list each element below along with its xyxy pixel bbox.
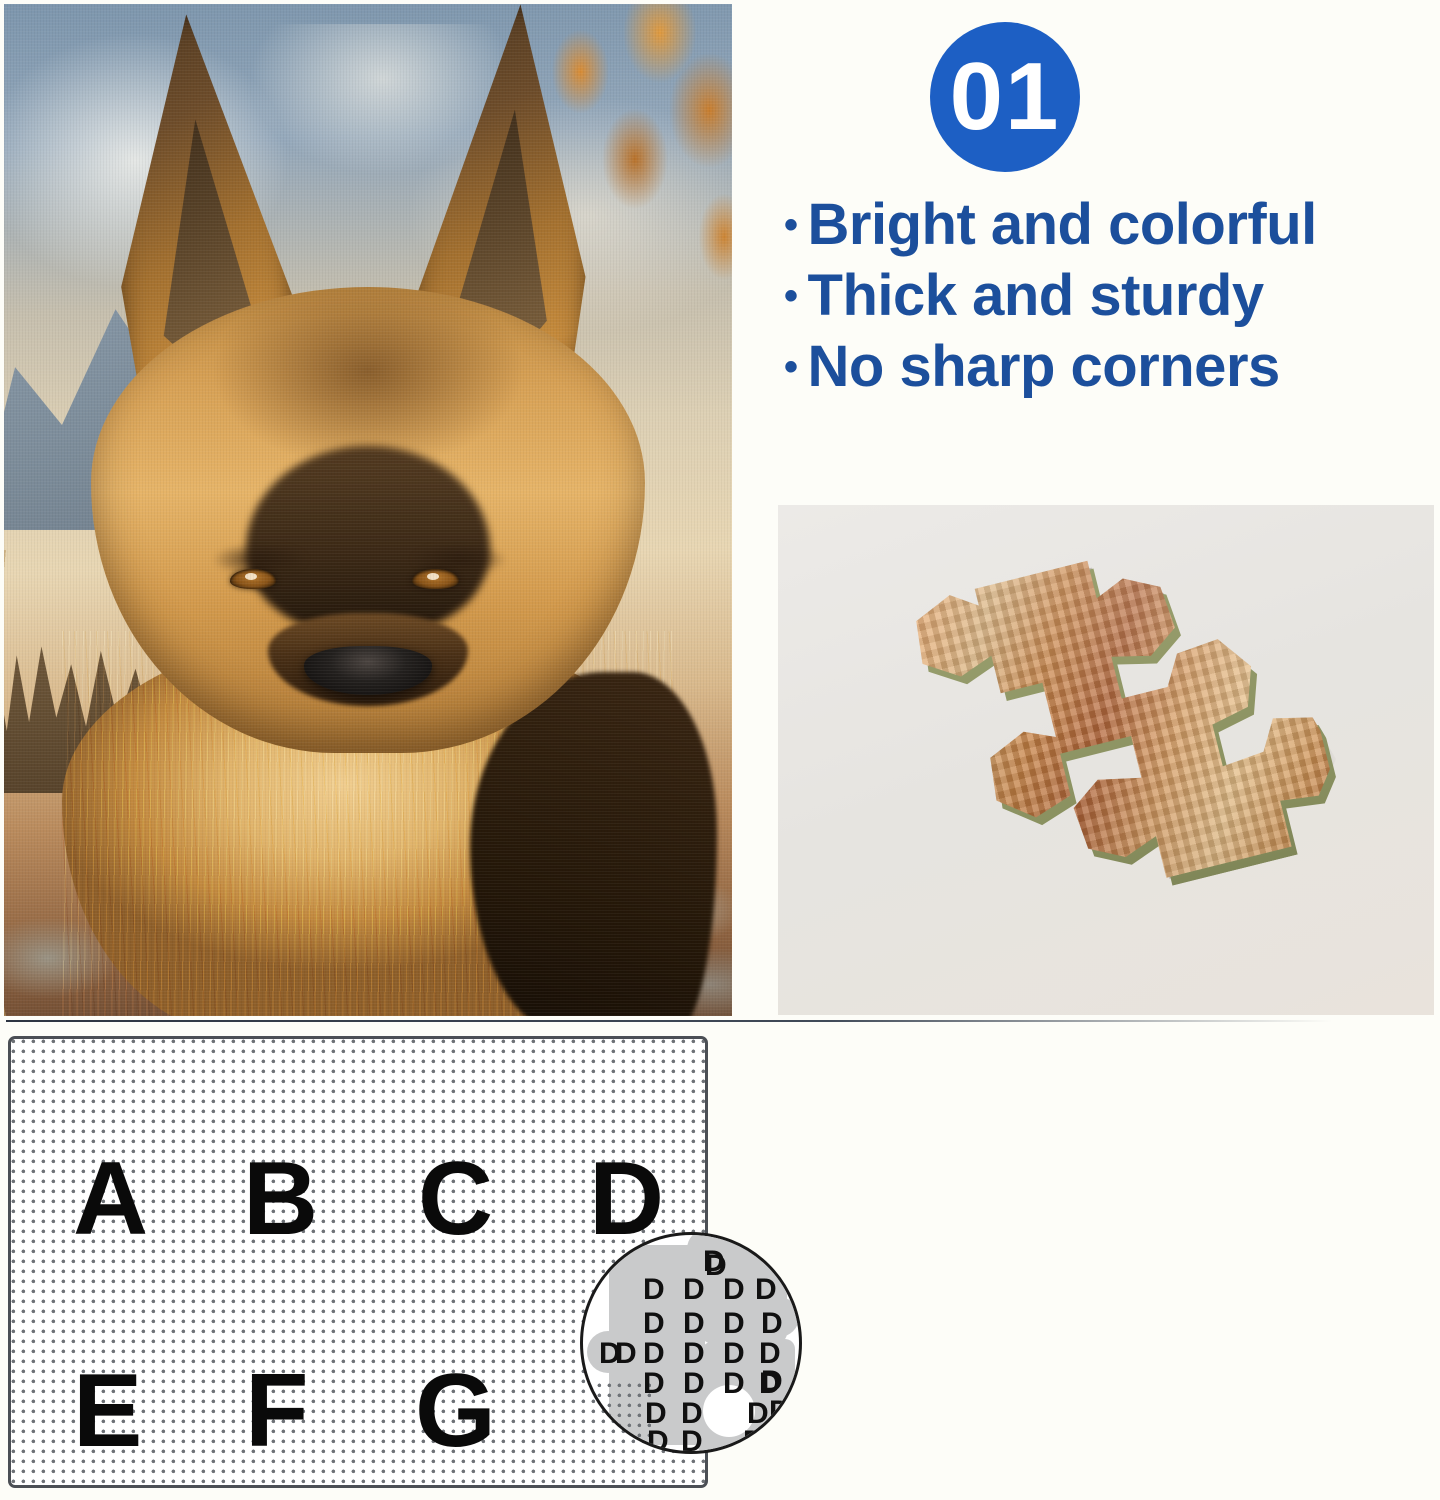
magnified-letter: D [643,1339,665,1369]
magnified-letter: D [743,1427,765,1454]
feature-block-01: 01 • Bright and colorful • Thick and stu… [770,22,1430,402]
magnified-letter: D [681,1427,703,1454]
dog-head [91,287,644,753]
dog-eye-left [230,569,276,589]
magnified-letter: D [755,1275,777,1305]
bullet-item-bright: • Bright and colorful [784,190,1430,261]
grid-letter-c: C [418,1147,493,1251]
magnified-letter: D [647,1427,669,1454]
dog-figure [4,4,732,1016]
bullet-label-thick: Thick and sturdy [808,261,1264,332]
magnified-letter: D [761,1309,783,1339]
magnified-letter: D [643,1275,665,1305]
step-badge-01: 01 [930,22,1080,172]
magnified-letter: D [723,1309,745,1339]
grid-letter-e: E [73,1359,142,1463]
magnified-board-dots [580,1383,651,1454]
magnified-letter: D [683,1339,705,1369]
grid-letter-g: G [415,1359,496,1463]
grid-letter-a: A [73,1147,148,1251]
magnified-letter: D [723,1339,745,1369]
magnified-letter: D [723,1275,745,1305]
bullet-item-thick: • Thick and sturdy [784,261,1430,332]
german-shepherd-artwork [4,4,732,1016]
magnified-letter: D [683,1369,705,1399]
magnified-letter: D [769,1397,791,1427]
bullet-dot-icon: • [784,276,798,316]
bullet-label-no-sharp-corners: No sharp corners [808,332,1280,403]
magnified-letter: D [703,1247,725,1277]
grid-letter-b: B [243,1147,318,1251]
bullet-dot-icon: • [784,347,798,387]
dog-eye-right [412,569,458,589]
feature-01-bullet-list: • Bright and colorful • Thick and sturdy… [770,190,1430,402]
magnified-letter: D [683,1275,705,1305]
magnified-letter: D [643,1309,665,1339]
puzzle-piece-photo [778,505,1434,1015]
section-divider [6,1020,1332,1022]
magnifier-detail-circle: DDDDDDDDDDDDDDDDDDDDDDDDDDDD [580,1232,802,1454]
bullet-label-bright: Bright and colorful [808,190,1317,261]
dog-face-mask [246,446,489,632]
bullet-dot-icon: • [784,205,798,245]
dog-artwork-panel [4,4,732,1016]
piece-printed-face [845,505,1366,1015]
grid-letter-f: F [245,1359,309,1463]
magnified-letter: D [643,1369,665,1399]
magnified-letter: D [723,1369,745,1399]
magnified-letter: D [683,1309,705,1339]
magnified-letter: D [761,1367,783,1397]
puzzle-piece [845,505,1366,1015]
bullet-item-no-sharp-corners: • No sharp corners [784,332,1430,403]
infographic-page: 01 • Bright and colorful • Thick and stu… [0,0,1440,1500]
magnified-letter: D [599,1339,621,1369]
